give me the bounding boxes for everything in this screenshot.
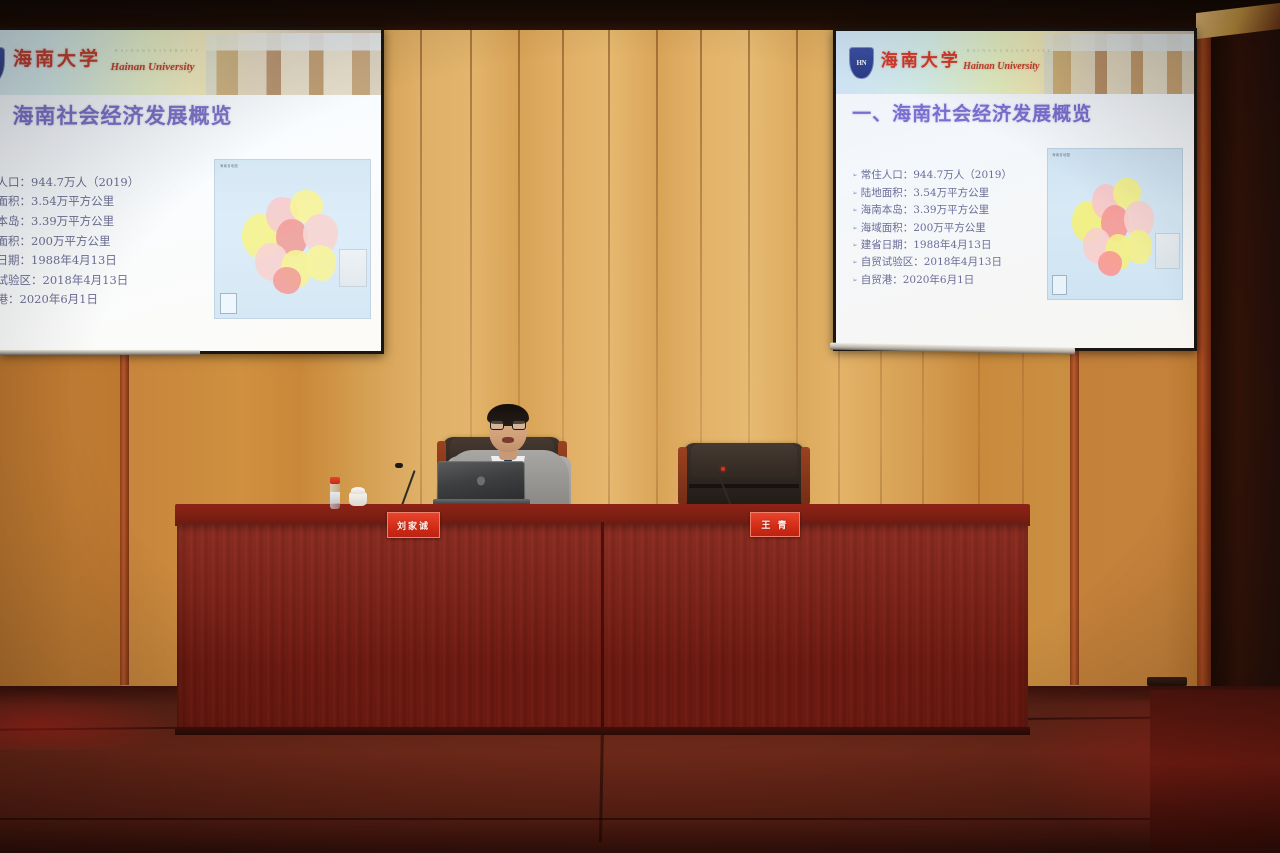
bullet-marker-icon: ➢ xyxy=(852,237,857,253)
mouth xyxy=(502,437,514,443)
university-name-en: Hainan University xyxy=(111,61,195,73)
bullet-marker-icon: ➢ xyxy=(852,185,857,201)
tea-cup-body xyxy=(349,492,367,506)
list-item: ➢ 常住人口：944.7万人（2019） xyxy=(852,167,1060,184)
microphone-indicator-led xyxy=(721,467,725,471)
bullet-marker-icon: ➢ xyxy=(852,254,857,270)
list-item: ➢ 陆地面积：3.54万平方公里 xyxy=(852,185,1060,202)
map-legend-box xyxy=(220,293,237,314)
slide-banner-right: HN 海南大学 H A I N A N U N I V E R S I T Y … xyxy=(836,31,1194,94)
hainan-map-image-left: 海南省地图 xyxy=(214,159,371,319)
slide-title-right: 一、海南社会经济发展概览 xyxy=(852,99,1092,126)
nameplate-left: 刘家诚 xyxy=(387,512,440,538)
ceiling-shadow xyxy=(0,0,1280,30)
slide-right: HN 海南大学 H A I N A N U N I V E R S I T Y … xyxy=(836,31,1194,348)
desk-base-trim xyxy=(175,727,1030,735)
nameplate-right-text: 王 青 xyxy=(761,518,788,531)
university-name-en-faint: H A I N A N U N I V E R S I T Y xyxy=(967,48,1051,53)
shield-badge-text: HN xyxy=(856,59,866,67)
list-item: ➢ 海南本岛：3.39万平方公里 xyxy=(852,202,1060,219)
university-name-cn: 海南大学 xyxy=(13,44,101,71)
laptop-screen-lid xyxy=(437,461,526,501)
conference-hall-photo: HN 海南大学 H A I N A N U N I V E R S I T Y … xyxy=(0,0,1280,853)
slide-bullet-list-right: ➢ 常住人口：944.7万人（2019） ➢ 陆地面积：3.54万平方公里 ➢ … xyxy=(852,167,1060,289)
map-caption: 海南省地图 xyxy=(220,163,238,168)
nameplate-right: 王 青 xyxy=(750,512,800,537)
list-item: ➢ 自贸试验区：2018年4月13日 xyxy=(0,272,210,292)
water-bottle-label xyxy=(330,492,340,503)
map-inset-box xyxy=(1155,233,1179,269)
microphone-capsule-left xyxy=(395,463,403,468)
map-legend-box xyxy=(1052,275,1067,295)
bullet-marker-icon: ➢ xyxy=(852,272,857,288)
screen-bezel-right: HN 海南大学 H A I N A N U N I V E R S I T Y … xyxy=(833,28,1197,351)
floor-equipment-object xyxy=(1147,677,1187,686)
slide-bullet-list-left: ➢ 常住人口：944.7万人（2019） ➢ 陆地面积：3.54万平方公里 ➢ … xyxy=(0,174,210,311)
executive-chair-right xyxy=(684,443,804,509)
list-item: ➢ 海域面积：200万平方公里 xyxy=(0,233,210,253)
list-item: ➢ 自贸试验区：2018年4月13日 xyxy=(852,254,1060,271)
list-item: ➢ 自贸港：2020年6月1日 xyxy=(852,272,1060,289)
tea-cup-lid xyxy=(351,487,365,494)
bullet-marker-icon: ➢ xyxy=(852,202,857,218)
slide-title-left: 一、海南社会经济发展概览 xyxy=(0,100,232,130)
eyeglasses-icon xyxy=(490,420,526,430)
water-bottle-cap xyxy=(330,477,340,484)
map-inset-box xyxy=(339,249,367,287)
conference-desk: 刘家诚 王 青 xyxy=(175,504,1030,734)
screen-bezel-left: HN 海南大学 H A I N A N U N I V E R S I T Y … xyxy=(0,27,384,354)
list-item: ➢ 海南本岛：3.39万平方公里 xyxy=(0,213,210,233)
projection-screen-right: HN 海南大学 H A I N A N U N I V E R S I T Y … xyxy=(833,28,1197,351)
bullet-marker-icon: ➢ xyxy=(852,167,857,183)
laptop-logo-icon xyxy=(477,477,485,486)
list-item: ➢ 陆地面积：3.54万平方公里 xyxy=(0,193,210,213)
slide-banner-left: HN 海南大学 H A I N A N U N I V E R S I T Y … xyxy=(0,30,384,95)
projection-screen-roller-left xyxy=(0,350,200,355)
list-item: ➢ 海域面积：200万平方公里 xyxy=(852,220,1060,237)
bullet-marker-icon: ➢ xyxy=(852,220,857,236)
nameplate-left-text: 刘家诚 xyxy=(397,519,430,532)
hainan-map-image-right: 海南省地图 xyxy=(1047,148,1183,300)
desk-panel-seam xyxy=(601,522,604,730)
right-wall-post-outer xyxy=(1197,0,1211,690)
slide-left: HN 海南大学 H A I N A N U N I V E R S I T Y … xyxy=(0,30,384,354)
stage-apron-right xyxy=(1150,690,1280,853)
university-name-en: Hainan University xyxy=(963,61,1039,72)
hainan-island-shape xyxy=(240,185,348,296)
list-item: ➢ 常住人口：944.7万人（2019） xyxy=(0,174,210,194)
university-name-cn: 海南大学 xyxy=(881,46,961,71)
right-doorway-dark xyxy=(1211,0,1280,700)
floor-red-light-left xyxy=(0,690,180,750)
university-name-en-faint: H A I N A N U N I V E R S I T Y xyxy=(115,48,199,53)
hainan-island-shape xyxy=(1070,173,1164,278)
list-item: ➢ 自贸港：2020年6月1日 xyxy=(0,291,210,311)
projection-screen-left: HN 海南大学 H A I N A N U N I V E R S I T Y … xyxy=(0,27,384,354)
list-item: ➢ 建省日期：1988年4月13日 xyxy=(852,237,1060,254)
map-caption: 海南省地图 xyxy=(1052,152,1070,157)
list-item: ➢ 建省日期：1988年4月13日 xyxy=(0,252,210,272)
